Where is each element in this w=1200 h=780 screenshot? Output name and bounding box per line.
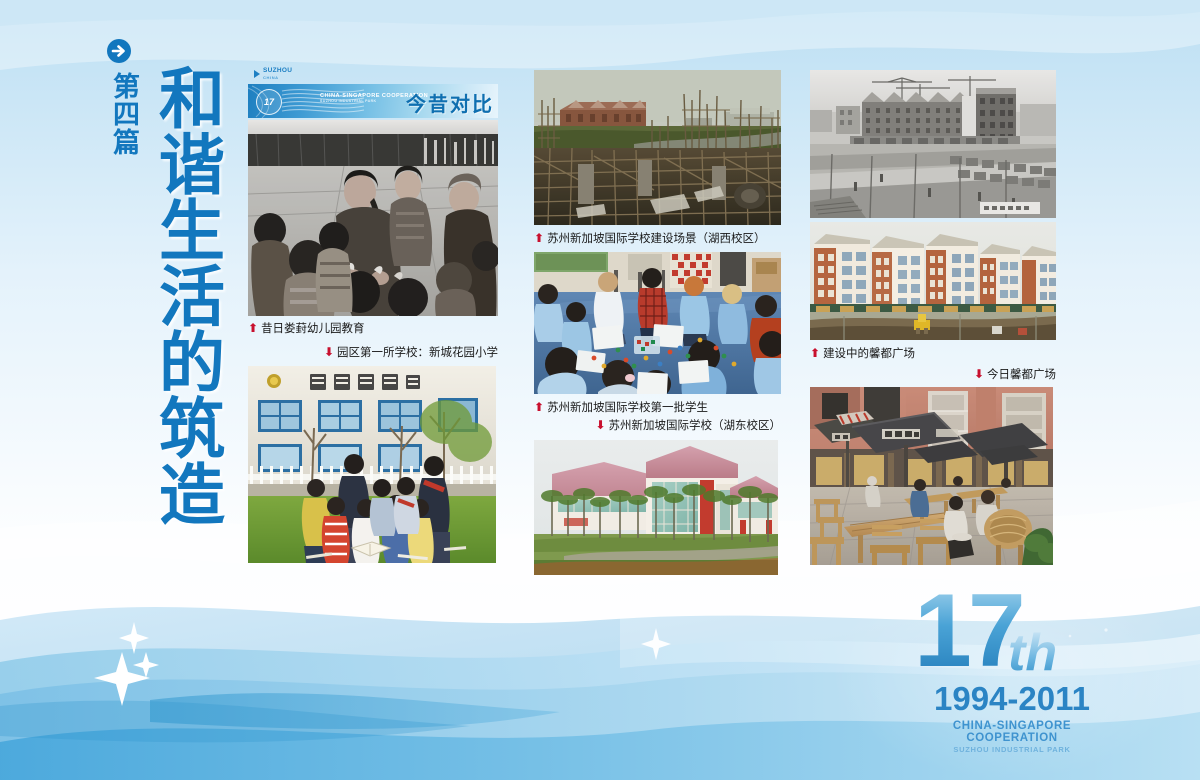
left-column: SUZHOU CHINA	[248, 68, 498, 563]
china-label: CHINA	[263, 76, 292, 80]
arrow-up-icon: ⬆	[810, 346, 820, 360]
arrow-up-icon: ⬆	[248, 321, 258, 335]
caption-sais-campus-hudong: ⬇ 苏州新加坡国际学校（湖东校区）	[534, 418, 781, 434]
section-title-block: 第四篇 和谐生活的筑造	[92, 38, 224, 558]
anniversary-badge-small: 17	[256, 89, 282, 115]
page-title: 和谐生活的筑造	[136, 64, 220, 526]
photo-xindu-plaza-apartments	[810, 222, 1056, 340]
header-banner: SUZHOU CHINA	[248, 68, 498, 118]
poster-page: 第四篇 和谐生活的筑造 SUZHOU CHINA	[0, 0, 1200, 780]
arrow-up-icon: ⬆	[534, 400, 544, 414]
caption-text: 苏州新加坡国际学校建设场景（湖西校区）	[547, 231, 766, 247]
caption-text: 园区第一所学校：新城花园小学	[337, 345, 498, 361]
caption-kindergarten-historic: ⬆ 昔日娄葑幼儿园教育	[248, 321, 498, 337]
photo-kindergarten-historic	[248, 120, 498, 316]
caption-sais-first-students: ⬆ 苏州新加坡国际学校第一批学生	[534, 400, 781, 416]
anniversary-logo: 17 th 1994-2011 CHINA-SINGAPORE COOPERAT…	[912, 578, 1112, 754]
caption-xincheng-primary-school: ⬇ 园区第一所学校：新城花园小学	[248, 345, 498, 361]
anniversary-line2: SUZHOU INDUSTRIAL PARK	[912, 745, 1112, 754]
arrow-up-icon: ⬆	[534, 231, 544, 245]
caption-text: 今日馨都广场	[987, 367, 1056, 383]
photo-sais-construction-huxi	[534, 70, 781, 225]
svg-text:th: th	[1008, 624, 1057, 682]
caption-text: 昔日娄葑幼儿园教育	[261, 321, 365, 337]
photo-sais-first-students	[534, 252, 781, 394]
caption-xindu-plaza-today: ⬇ 今日馨都广场	[810, 367, 1056, 383]
caption-text: 苏州新加坡国际学校（湖东校区）	[609, 418, 782, 434]
caption-text: 苏州新加坡国际学校第一批学生	[547, 400, 708, 416]
suzhou-logo-mark: SUZHOU CHINA	[254, 68, 292, 80]
photo-sais-campus-hudong	[534, 440, 778, 575]
middle-column: ⬆ 苏州新加坡国际学校建设场景（湖西校区）	[534, 70, 781, 575]
photo-xindu-plaza-construction-bw	[810, 70, 1056, 218]
anniversary-years: 1994-2011	[912, 682, 1112, 715]
arrow-right-circle-icon	[106, 38, 132, 64]
triangle-icon	[254, 70, 260, 78]
suzhou-label: SUZHOU	[263, 68, 292, 75]
svg-text:17: 17	[914, 578, 1022, 686]
banner-bar: 17 CHINA-SINGAPORE COOPERATION SUZHOU IN…	[248, 84, 498, 118]
section-number-label: 第四篇	[98, 72, 138, 156]
caption-sais-construction-huxi: ⬆ 苏州新加坡国际学校建设场景（湖西校区）	[534, 231, 781, 247]
banner-chinese-title: 今昔对比	[406, 88, 494, 117]
anniversary-line1: CHINA-SINGAPORE COOPERATION	[912, 720, 1112, 744]
anniversary-number-group: 17 th	[912, 578, 1112, 686]
arrow-down-icon: ⬇	[324, 345, 334, 359]
arrow-down-icon: ⬇	[974, 367, 984, 381]
photo-xinchengbhuayuan-primary-school	[248, 366, 496, 563]
caption-xindu-plaza-construction: ⬆ 建设中的馨都广场	[810, 346, 1056, 362]
photo-xindu-plaza-today	[810, 387, 1053, 565]
right-column: ⬆ 建设中的馨都广场 ⬇ 今日馨都广场	[810, 70, 1056, 565]
caption-text: 建设中的馨都广场	[823, 346, 915, 362]
arrow-down-icon: ⬇	[595, 418, 605, 432]
